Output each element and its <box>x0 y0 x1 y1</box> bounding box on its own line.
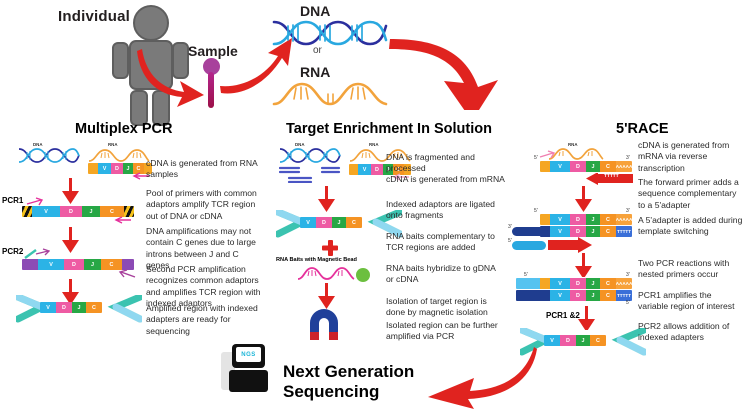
or-label: or <box>313 45 322 56</box>
note-mpcr-0: cDNA is generated from RNA samples <box>146 158 264 181</box>
cassette-mrna-race: V D J C AAAAA <box>540 161 632 172</box>
rna-strand-graphic <box>272 80 390 108</box>
segment-j: J <box>576 335 590 346</box>
end-5prime-race-4: 5' <box>626 300 630 306</box>
poly-a-tail: AAAAA <box>616 214 632 225</box>
note-race-3: Two PCR reactions with nested primers oc… <box>638 258 743 281</box>
segment-j: J <box>332 217 346 228</box>
segment-v: V <box>358 164 371 175</box>
segment-v: V <box>98 163 111 174</box>
column-title-multiplex-pcr: Multiplex PCR <box>75 121 172 137</box>
magnet-icon-te <box>304 306 344 340</box>
ngs-title-line2: Sequencing <box>283 382 414 402</box>
note-te-5: Isolation of target region is done by ma… <box>386 296 506 319</box>
column-title-target-enrichment: Target Enrichment In Solution <box>286 121 492 137</box>
segment-v: V <box>40 302 56 313</box>
rna-label: RNA <box>300 64 330 80</box>
segment-d: D <box>570 278 586 289</box>
segment-j: J <box>82 206 100 217</box>
stage-tag-pcr1: PCR1 <box>2 196 23 205</box>
segment-d: D <box>60 206 82 217</box>
segment-v: V <box>550 214 570 225</box>
segment-j: J <box>72 302 86 313</box>
note-te-2: Indexed adaptors are ligated onto fragme… <box>386 199 504 222</box>
segment-v: V <box>38 259 64 270</box>
note-te-0: DNA is fragmented and processed <box>386 152 508 175</box>
segment-j: J <box>586 290 600 301</box>
person-arm-left <box>112 42 129 79</box>
primer-arrow-mpcr-4 <box>112 269 136 281</box>
segment-j: J <box>586 161 600 172</box>
end-5prime-race-1: 5' <box>534 208 538 214</box>
mini-dna-helix-te <box>279 147 341 165</box>
cassette-mrna-race-2: V D J C AAAAA <box>540 214 632 225</box>
segment-d: D <box>56 302 72 313</box>
arrow-to-ngs <box>408 345 538 409</box>
poly-a-tail: AAAAA <box>616 278 632 289</box>
segment-j: J <box>84 259 101 270</box>
cassette-adapted-bottom-race: V D J C TTTTT <box>516 290 632 301</box>
segment-j: J <box>586 226 600 237</box>
fragmented-dna-te <box>279 166 341 183</box>
note-race-0: cDNA is generated from mRNA via reverse … <box>638 140 743 174</box>
arrow-step-race-1 <box>575 186 594 212</box>
arrow-step-mpcr-2 <box>62 227 81 255</box>
segment-j: J <box>586 278 600 289</box>
note-te-3: RNA baits complementary to TCR regions a… <box>386 231 504 254</box>
poly-t-tail: TTTTT <box>616 226 632 237</box>
note-race-4: PCR1 amplifies the variable region of in… <box>638 290 743 313</box>
note-te-4: RNA baits hybridize to gDNA or cDNA <box>386 263 504 286</box>
template-switch-arrow-race <box>548 237 592 253</box>
segment-d: D <box>371 164 383 175</box>
note-mpcr-4: Amplified region with indexed adapters a… <box>146 303 264 337</box>
note-race-5: PCR2 allows addition of indexed adapters <box>638 321 743 344</box>
segment-v: V <box>550 161 570 172</box>
arrow-to-workflows <box>386 25 516 110</box>
plus-icon-te <box>322 240 338 256</box>
segment-d: D <box>570 226 586 237</box>
segment-v: V <box>550 226 570 237</box>
end-5prime-race-0: 5' <box>534 155 538 161</box>
adapter-dark-race <box>512 226 548 238</box>
cassette-final-race: V D J C <box>544 335 606 346</box>
segment-c: C <box>86 302 102 313</box>
segment-d: D <box>570 214 586 225</box>
column-title-five-prime-race: 5'RACE <box>616 121 669 137</box>
arrow-step-race-2 <box>575 253 594 277</box>
sample-swab-stick <box>208 72 214 108</box>
cassette-adapted-top-race: V D J C AAAAA <box>516 278 632 289</box>
segment-c: C <box>600 226 616 237</box>
segment-c: C <box>600 278 616 289</box>
primer-t-label-race: TTTTT <box>604 174 619 179</box>
segment-d: D <box>570 161 586 172</box>
segment-d: D <box>316 217 332 228</box>
poly-a-tail: AAAAA <box>616 161 632 172</box>
ngs-machine-body <box>229 370 268 392</box>
mini-dna-helix-mpcr <box>18 147 80 165</box>
individual-label: Individual <box>58 8 130 25</box>
mini-rna-strand-mpcr <box>88 147 150 163</box>
segment-c: C <box>600 290 616 301</box>
arrow-step-mpcr-1 <box>62 178 81 206</box>
segment-j: J <box>586 214 600 225</box>
note-te-6: Isolated region can be further amplified… <box>386 320 506 343</box>
note-te-1: cDNA is generated from mRNA <box>386 174 508 185</box>
dna-helix-graphic <box>272 18 390 48</box>
stage-tag-pcr2: PCR2 <box>2 247 23 256</box>
rna-bait-with-bead-te <box>296 263 372 285</box>
segment-v: V <box>544 335 560 346</box>
cassette-cdna-race-2: V D J C TTTTT <box>540 226 632 237</box>
segment-v: V <box>550 290 570 301</box>
segment-c: C <box>600 214 616 225</box>
segment-d: D <box>570 290 586 301</box>
segment-d: D <box>560 335 576 346</box>
segment-d: D <box>64 259 84 270</box>
dna-label: DNA <box>300 3 330 19</box>
arrow-step-race-3 <box>578 306 597 330</box>
segment-c: C <box>346 217 362 228</box>
person-head <box>133 5 169 41</box>
segment-c: C <box>590 335 606 346</box>
adapter-light-race <box>512 240 546 252</box>
segment-v: V <box>550 278 570 289</box>
note-mpcr-1: Pool of primers with common adaptors amp… <box>146 188 264 222</box>
note-race-2: A 5'adapter is added during template swi… <box>638 215 743 238</box>
segment-d: D <box>111 163 123 174</box>
segment-v: V <box>300 217 316 228</box>
ngs-screen-label: NGS <box>236 347 261 362</box>
cassette-ligated-te: V D J C <box>300 217 362 228</box>
note-race-1: The forward primer adds a sequence compl… <box>638 177 743 211</box>
ngs-title-line1: Next Generation <box>283 362 414 382</box>
cassette-final-mpcr: V D J C <box>40 302 102 313</box>
primer-arrow-race-0 <box>539 150 559 160</box>
stage-tag-pcr1-and-2: PCR1 &2 <box>546 311 580 320</box>
ngs-title: Next Generation Sequencing <box>283 362 414 402</box>
segment-c: C <box>600 161 616 172</box>
segment-v: V <box>32 206 60 217</box>
primer-arrow-mpcr-2 <box>110 216 132 226</box>
